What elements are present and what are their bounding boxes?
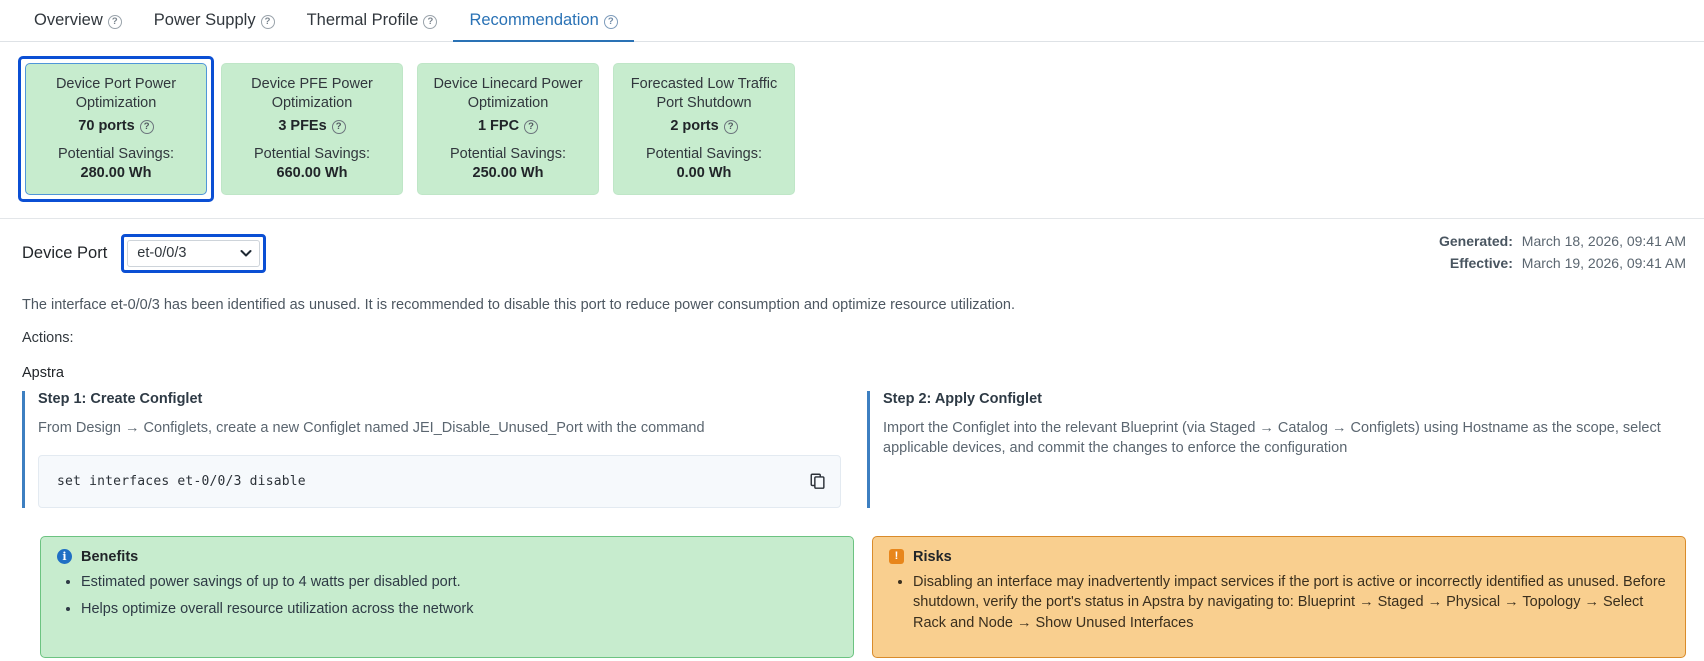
tab-recommendation[interactable]: Recommendation? [453, 11, 633, 41]
benefits-risks-panels: i Benefits Estimated power savings of up… [0, 508, 1704, 658]
tab-overview[interactable]: Overview? [18, 11, 138, 41]
recommendation-card[interactable]: Device Linecard Power Optimization1 FPC?… [417, 63, 599, 195]
card-savings-value: 660.00 Wh [232, 164, 392, 183]
tab-label: Thermal Profile [307, 11, 419, 30]
info-icon: i [57, 549, 72, 564]
benefits-header: i Benefits [57, 549, 837, 572]
risks-list: Disabling an interface may inadvertently… [889, 572, 1669, 634]
card-metric: 3 PFEs? [232, 118, 392, 134]
help-icon[interactable]: ? [261, 15, 275, 29]
tab-power-supply[interactable]: Power Supply? [138, 11, 291, 41]
effective-label: Effective: [1450, 255, 1513, 271]
recommendation-body: The interface et-0/0/3 has been identifi… [0, 283, 1704, 508]
tab-bar: Overview?Power Supply?Thermal Profile?Re… [0, 0, 1704, 42]
list-item: Disabling an interface may inadvertently… [913, 572, 1669, 634]
recommendation-card[interactable]: Forecasted Low Traffic Port Shutdown2 po… [613, 63, 795, 195]
generated-value: March 18, 2026, 09:41 AM [1522, 233, 1686, 249]
card-metric: 1 FPC? [428, 118, 588, 134]
step-1: Step 1: Create Configlet From Design → C… [22, 391, 841, 508]
benefits-list: Estimated power savings of up to 4 watts… [57, 572, 837, 620]
device-port-label: Device Port [22, 244, 107, 263]
benefits-title: Benefits [81, 549, 138, 565]
generated-line: Generated: March 18, 2026, 09:41 AM [1439, 231, 1686, 253]
card-savings-value: 0.00 Wh [624, 164, 784, 183]
recommendation-cards: Device Port Power Optimization70 ports?P… [18, 56, 1686, 202]
recommendation-card-wrapper: Device Port Power Optimization70 ports?P… [18, 56, 214, 202]
configlet-command: set interfaces et-0/0/3 disable [57, 474, 306, 489]
step-2-title: Step 2: Apply Configlet [883, 391, 1686, 418]
card-savings-label: Potential Savings: [36, 145, 196, 164]
card-title: Device PFE Power Optimization [232, 75, 392, 113]
report-meta: Generated: March 18, 2026, 09:41 AM Effe… [1439, 231, 1686, 274]
tab-label: Power Supply [154, 11, 256, 30]
effective-value: March 19, 2026, 09:41 AM [1522, 255, 1686, 271]
card-metric: 2 ports? [624, 118, 784, 134]
step-2: Step 2: Apply Configlet Import the Confi… [867, 391, 1686, 508]
list-item: Estimated power savings of up to 4 watts… [81, 572, 837, 593]
card-title: Device Port Power Optimization [36, 75, 196, 113]
help-icon[interactable]: ? [604, 15, 618, 29]
actions-heading: Actions: [22, 313, 1686, 346]
device-port-select[interactable]: et-0/0/3 [127, 240, 260, 267]
card-metric-value: 70 ports [78, 118, 134, 134]
help-icon[interactable]: ? [423, 15, 437, 29]
card-savings-label: Potential Savings: [232, 145, 392, 164]
configlet-code-block: set interfaces et-0/0/3 disable [38, 455, 841, 508]
help-icon[interactable]: ? [724, 120, 738, 134]
card-savings-value: 280.00 Wh [36, 164, 196, 183]
step-1-title: Step 1: Create Configlet [38, 391, 841, 418]
recommendation-card-wrapper: Device PFE Power Optimization3 PFEs?Pote… [214, 56, 410, 202]
card-title: Forecasted Low Traffic Port Shutdown [624, 75, 784, 113]
copy-icon[interactable] [809, 472, 827, 490]
card-metric-value: 2 ports [670, 118, 718, 134]
card-savings-value: 250.00 Wh [428, 164, 588, 183]
card-metric-value: 1 FPC [478, 118, 519, 134]
risks-panel: ! Risks Disabling an interface may inadv… [872, 536, 1686, 658]
help-icon[interactable]: ? [524, 120, 538, 134]
device-port-selector-group: Device Port et-0/0/3 [22, 234, 266, 273]
recommendation-card-wrapper: Forecasted Low Traffic Port Shutdown2 po… [606, 56, 802, 202]
card-savings-label: Potential Savings: [624, 145, 784, 164]
device-port-select-focus-ring: et-0/0/3 [121, 234, 266, 273]
risks-header: ! Risks [889, 549, 1669, 572]
chevron-down-icon [240, 247, 252, 259]
step-2-text: Import the Configlet into the relevant B… [883, 418, 1686, 458]
risks-title: Risks [913, 549, 952, 565]
help-icon[interactable]: ? [140, 120, 154, 134]
warning-icon: ! [889, 549, 904, 564]
vendor-heading: Apstra [22, 346, 1686, 381]
list-item: Helps optimize overall resource utilizat… [81, 599, 837, 620]
card-metric-value: 3 PFEs [278, 118, 326, 134]
benefits-panel: i Benefits Estimated power savings of up… [40, 536, 854, 658]
effective-line: Effective: March 19, 2026, 09:41 AM [1439, 253, 1686, 275]
device-port-row: Device Port et-0/0/3 Generated: March 18… [0, 219, 1704, 282]
steps-container: Step 1: Create Configlet From Design → C… [22, 381, 1686, 508]
device-port-select-value: et-0/0/3 [137, 245, 186, 261]
tab-label: Overview [34, 11, 103, 30]
tab-thermal-profile[interactable]: Thermal Profile? [291, 11, 454, 41]
card-title: Device Linecard Power Optimization [428, 75, 588, 113]
recommendation-cards-strip: Device Port Power Optimization70 ports?P… [0, 42, 1704, 219]
recommendation-card-wrapper: Device Linecard Power Optimization1 FPC?… [410, 56, 606, 202]
generated-label: Generated: [1439, 233, 1513, 249]
tab-label: Recommendation [469, 11, 598, 30]
recommendation-card[interactable]: Device Port Power Optimization70 ports?P… [25, 63, 207, 195]
help-icon[interactable]: ? [108, 15, 122, 29]
card-savings-label: Potential Savings: [428, 145, 588, 164]
recommendation-description: The interface et-0/0/3 has been identifi… [22, 283, 1686, 313]
recommendation-card[interactable]: Device PFE Power Optimization3 PFEs?Pote… [221, 63, 403, 195]
card-metric: 70 ports? [36, 118, 196, 134]
step-1-text: From Design → Configlets, create a new C… [38, 418, 841, 438]
help-icon[interactable]: ? [332, 120, 346, 134]
